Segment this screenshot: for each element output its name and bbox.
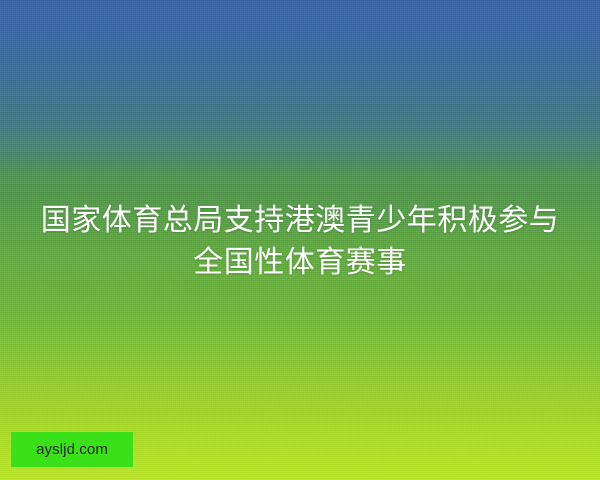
site-watermark-badge[interactable]: aysljd.com <box>11 432 133 467</box>
article-cover-image: 国家体育总局支持港澳青少年积极参与全国性体育赛事 aysljd.com <box>0 0 600 480</box>
site-watermark-label: aysljd.com <box>36 442 108 457</box>
page-title: 国家体育总局支持港澳青少年积极参与全国性体育赛事 <box>0 200 600 284</box>
